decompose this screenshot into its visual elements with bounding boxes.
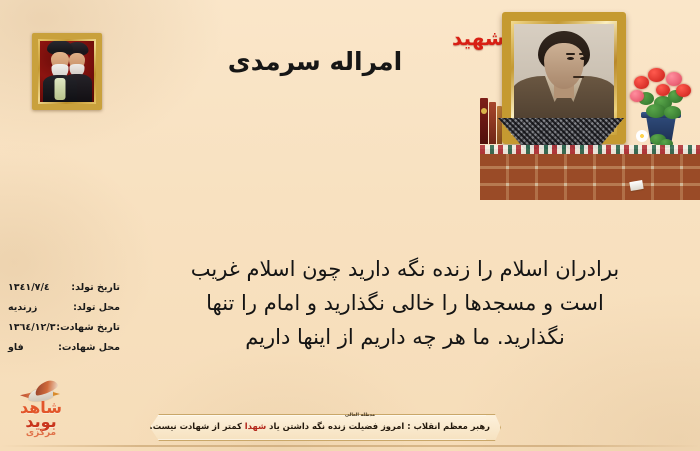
eyebrow-right [579, 53, 588, 55]
flower-bloom [676, 84, 691, 97]
supreme-leaders-portrait-frame [32, 33, 102, 110]
info-value-martyrdom-place: فاو [8, 343, 24, 353]
flower-bloom [630, 90, 644, 102]
info-label-birth-date: تاریخ تولد: [71, 283, 120, 293]
info-label-birth-place: محل تولد: [73, 303, 120, 313]
books-stack [480, 98, 502, 144]
eyebrow-left [566, 53, 575, 55]
cleric-figure-front [43, 41, 77, 102]
footer-leader-quote: رهبر معظم انقلاب : امروز فضیلت زنده نگه … [155, 421, 490, 431]
info-row-martyrdom-date: تاریخ شهادت: ١٣٦٤/١٢/٣ [8, 323, 120, 343]
info-row-birth-date: تاریخ تولد: ١٣٤١/٧/٤ [8, 283, 120, 303]
info-row-birth-place: محل تولد: زرندیه [8, 303, 120, 323]
white-flower-bloom [636, 130, 648, 142]
footer-divider [0, 445, 700, 447]
info-value-martyrdom-date: ١٣٦٤/١٢/٣ [8, 323, 56, 333]
info-label-martyrdom-place: محل شهادت: [58, 343, 120, 353]
flower-bloom [634, 76, 649, 89]
martyr-info-panel: تاریخ تولد: ١٣٤١/٧/٤ محل تولد: زرندیه تا… [8, 283, 120, 363]
eye-right [580, 57, 587, 60]
leaf-shape [664, 106, 681, 119]
logo-word-region: مرکزی [10, 428, 72, 438]
quote-line: نگذارید. ما هر چه داریم از اینها داریم [155, 320, 655, 354]
supreme-leaders-portrait-image [40, 41, 94, 102]
martyr-name-title: امراله سرمدی [170, 47, 460, 76]
info-value-birth-date: ١٣٤١/٧/٤ [8, 283, 50, 293]
book-emblem-icon [481, 108, 487, 114]
martyr-will-quote: برادران اسلام را زنده نگه دارید چون اسلا… [155, 252, 655, 354]
info-label-martyrdom-date: تاریخ شهادت: [56, 323, 120, 333]
footer-superscript: مدظله العالی [300, 413, 420, 418]
brick-shelf [480, 149, 700, 200]
footer-quote-highlight: شهدا [245, 421, 266, 431]
eye-left [567, 57, 574, 60]
sash-shape [55, 78, 66, 100]
mouth-shape [573, 76, 584, 78]
footer-quote-part-2: کمتر از شهادت نیست. [150, 421, 245, 431]
martyr-memorial-poster: امراله سرمدی شهید [0, 0, 700, 451]
info-value-birth-place: زرندیه [8, 303, 37, 313]
flower-bloom [656, 84, 670, 96]
book-spine [480, 98, 488, 144]
footer-quote-part-1: امروز فضیلت زنده نگه داشتن یاد [266, 421, 407, 431]
book-spine [489, 102, 496, 144]
flower-bloom [648, 68, 665, 82]
info-row-martyrdom-place: محل شهادت: فاو [8, 343, 120, 363]
martyr-photo-image [514, 24, 614, 132]
shelf-runner-trim [480, 145, 700, 154]
memorial-shelf-scene [480, 0, 700, 200]
footer-attribution: رهبر معظم انقلاب : [407, 421, 490, 431]
quote-line: برادران اسلام را زنده نگه دارید چون اسلا… [155, 252, 655, 286]
leaf-shape [646, 104, 666, 118]
site-logo[interactable]: شاهد بوید مرکزی [8, 378, 74, 444]
quote-line: است و مسجدها را خالی نگذارید و امام را ت… [155, 286, 655, 320]
bird-beak-shape [53, 392, 60, 396]
